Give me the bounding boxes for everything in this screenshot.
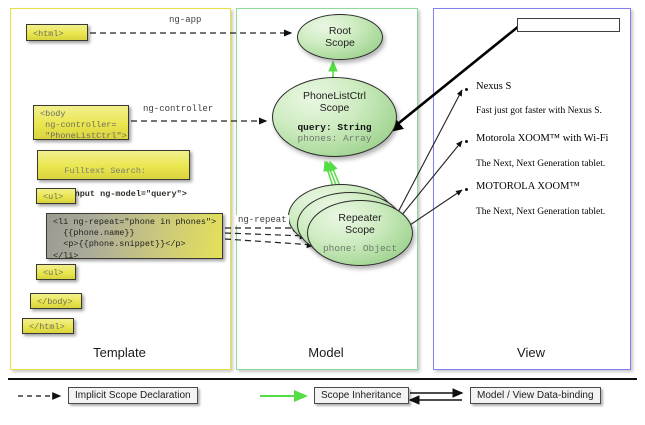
html-close-box: </html> <box>22 318 74 334</box>
phonelistctrl-scope-ellipse: PhoneListCtrl Scope query: String phones… <box>272 77 397 157</box>
repeater-prop-phone: phone: Object <box>323 243 397 254</box>
view-item-title-2: MOTOROLA XOOM™ <box>476 181 580 192</box>
edge-label-ng-app: ng-app <box>167 15 203 25</box>
ul-close-box: <ul> <box>36 264 76 280</box>
view-item-snippet-1: The Next, Next Generation tablet. <box>476 159 605 169</box>
view-bullet-1 <box>465 140 468 143</box>
fulltext-search-input-code: <input ng-model="query"> <box>64 189 186 199</box>
diagram-canvas: Template Model View <html> <body ng-cont… <box>0 0 645 425</box>
view-item-snippet-0: Fast just got faster with Nexus S. <box>476 106 602 116</box>
view-bullet-0 <box>465 88 468 91</box>
view-bullet-2 <box>465 188 468 191</box>
view-item-title-0: Nexus S <box>476 81 511 92</box>
legend-scope-inheritance: Scope Inheritance <box>314 387 409 404</box>
root-scope-ellipse: Root Scope <box>297 14 383 60</box>
view-item-snippet-2: The Next, Next Generation tablet. <box>476 207 605 217</box>
view-item-title-1: Motorola XOOM™ with Wi-Fi <box>476 133 608 144</box>
phonelistctrl-line2: Scope <box>320 102 350 114</box>
panel-label-view: View <box>433 345 629 360</box>
body-controller-box: <body ng-controller= "PhoneListCtrl"> <box>33 105 129 140</box>
repeater-line1: Repeater <box>338 212 381 224</box>
panel-label-template: Template <box>10 345 229 360</box>
legend-model-view-databinding: Model / View Data-binding <box>470 387 601 404</box>
legend: Implicit Scope Declaration Scope Inherit… <box>0 378 645 425</box>
edge-label-ng-controller: ng-controller <box>141 104 215 114</box>
repeater-scope-ellipse: Repeater Scope phone: Object <box>307 200 413 266</box>
html-open-box: <html> <box>26 24 88 41</box>
root-scope-line2: Scope <box>325 37 355 49</box>
body-close-box: </body> <box>30 293 82 309</box>
panel-label-model: Model <box>236 345 416 360</box>
ul-open-box: <ul> <box>36 188 76 204</box>
li-repeat-box: <li ng-repeat="phone in phones"> {{phone… <box>46 213 223 259</box>
phonelistctrl-prop-query: query: String <box>297 122 371 133</box>
legend-implicit-scope-declaration: Implicit Scope Declaration <box>68 387 198 404</box>
fulltext-search-label: Fulltext Search: <box>64 166 146 176</box>
root-scope-line1: Root <box>329 25 351 37</box>
edge-label-ng-repeat: ng-repeat <box>236 215 289 225</box>
view-search-input[interactable] <box>517 18 620 32</box>
fulltext-search-box: Fulltext Search: <input ng-model="query"… <box>37 150 190 180</box>
repeater-line2: Scope <box>345 224 375 236</box>
phonelistctrl-prop-phones: phones: Array <box>297 133 371 144</box>
phonelistctrl-line1: PhoneListCtrl <box>303 90 366 102</box>
